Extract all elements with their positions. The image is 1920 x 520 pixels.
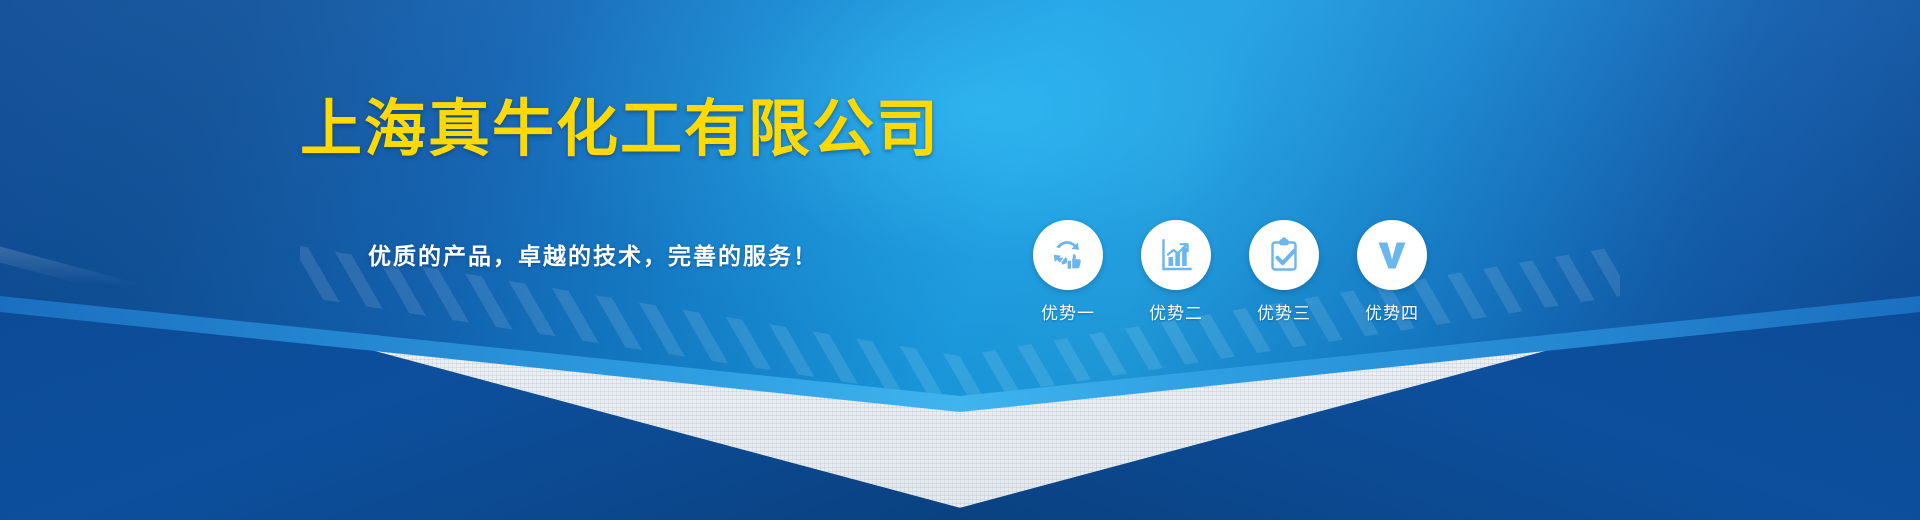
advantage-icon-circle-2[interactable] <box>1141 220 1211 290</box>
clipboard-check-icon <box>1264 235 1304 275</box>
advantage-label-4: 优势四 <box>1365 304 1419 324</box>
advantage-label-2: 优势二 <box>1149 304 1203 324</box>
advantage-icon-circle-3[interactable] <box>1249 220 1319 290</box>
advantage-item-4[interactable]: 优势四 <box>1357 220 1427 324</box>
advantage-item-1[interactable]: 优势一 <box>1033 220 1103 324</box>
page-title: 上海真牛化工有限公司 <box>300 94 940 166</box>
page-subtitle: 优质的产品，卓越的技术，完善的服务！ <box>368 240 818 272</box>
company-hero-banner: 上海真牛化工有限公司 优质的产品，卓越的技术，完善的服务！ 优势一 <box>0 0 1920 520</box>
bar-chart-growth-icon <box>1156 235 1196 275</box>
refresh-thumbsup-icon <box>1048 235 1088 275</box>
advantage-item-2[interactable]: 优势二 <box>1141 220 1211 324</box>
advantage-icon-circle-1[interactable] <box>1033 220 1103 290</box>
advantage-icon-circle-4[interactable] <box>1357 220 1427 290</box>
advantage-label-1: 优势一 <box>1041 304 1095 324</box>
v-check-icon <box>1372 235 1412 275</box>
advantages-list: 优势一 优势二 <box>1033 220 1427 324</box>
advantage-item-3[interactable]: 优势三 <box>1249 220 1319 324</box>
advantage-label-3: 优势三 <box>1257 304 1311 324</box>
